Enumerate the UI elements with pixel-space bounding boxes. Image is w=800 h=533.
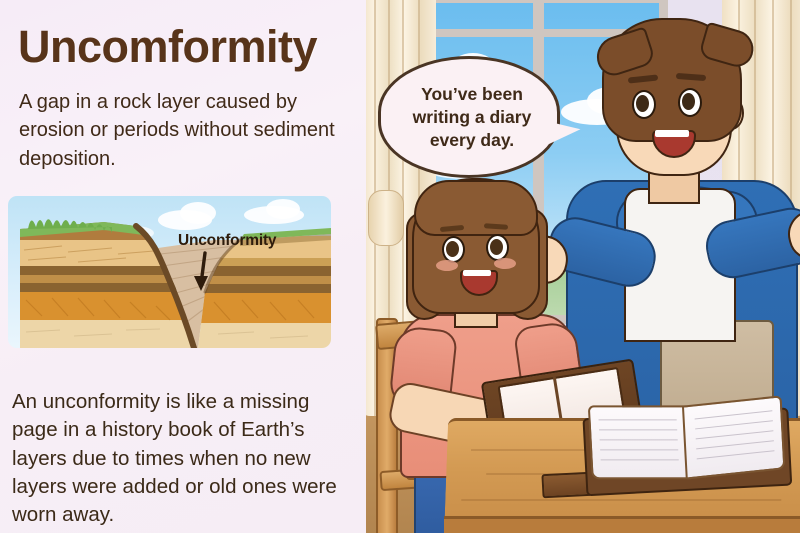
speech-line-2: writing a diary bbox=[381, 106, 563, 129]
summary-text: An unconformity is like a missing page i… bbox=[12, 388, 356, 529]
strata-cross-section bbox=[8, 196, 331, 348]
diagram-label-unconformity: Unconformity bbox=[178, 232, 276, 250]
girl-teeth bbox=[463, 270, 491, 276]
girl-eye-right bbox=[486, 234, 509, 261]
speech-line-3: every day. bbox=[381, 129, 563, 152]
unconformity-diagram: Unconformity bbox=[8, 196, 331, 348]
speech-line-1: You’ve been bbox=[381, 83, 563, 106]
table-edge bbox=[444, 516, 800, 533]
explanation-panel: Uncomformity A gap in a rock layer cause… bbox=[0, 0, 366, 533]
illustration-panel: You’ve been writing a diary every day. bbox=[366, 0, 800, 533]
page-title: Uncomformity bbox=[18, 24, 317, 69]
open-notebook bbox=[588, 398, 782, 492]
girl-fringe bbox=[414, 180, 538, 236]
speech-bubble: You’ve been writing a diary every day. bbox=[378, 56, 560, 178]
girl-eye-left bbox=[442, 236, 465, 263]
man-eye-right bbox=[678, 88, 702, 117]
definition-text: A gap in a rock layer caused by erosion … bbox=[19, 88, 349, 173]
girl-blush-right bbox=[494, 258, 516, 269]
lesson-card: Uncomformity A gap in a rock layer cause… bbox=[0, 0, 800, 533]
man-teeth bbox=[655, 130, 689, 137]
man-eye-left bbox=[632, 90, 656, 119]
girl-blush-left bbox=[436, 260, 458, 271]
speech-bubble-tail bbox=[543, 121, 581, 149]
